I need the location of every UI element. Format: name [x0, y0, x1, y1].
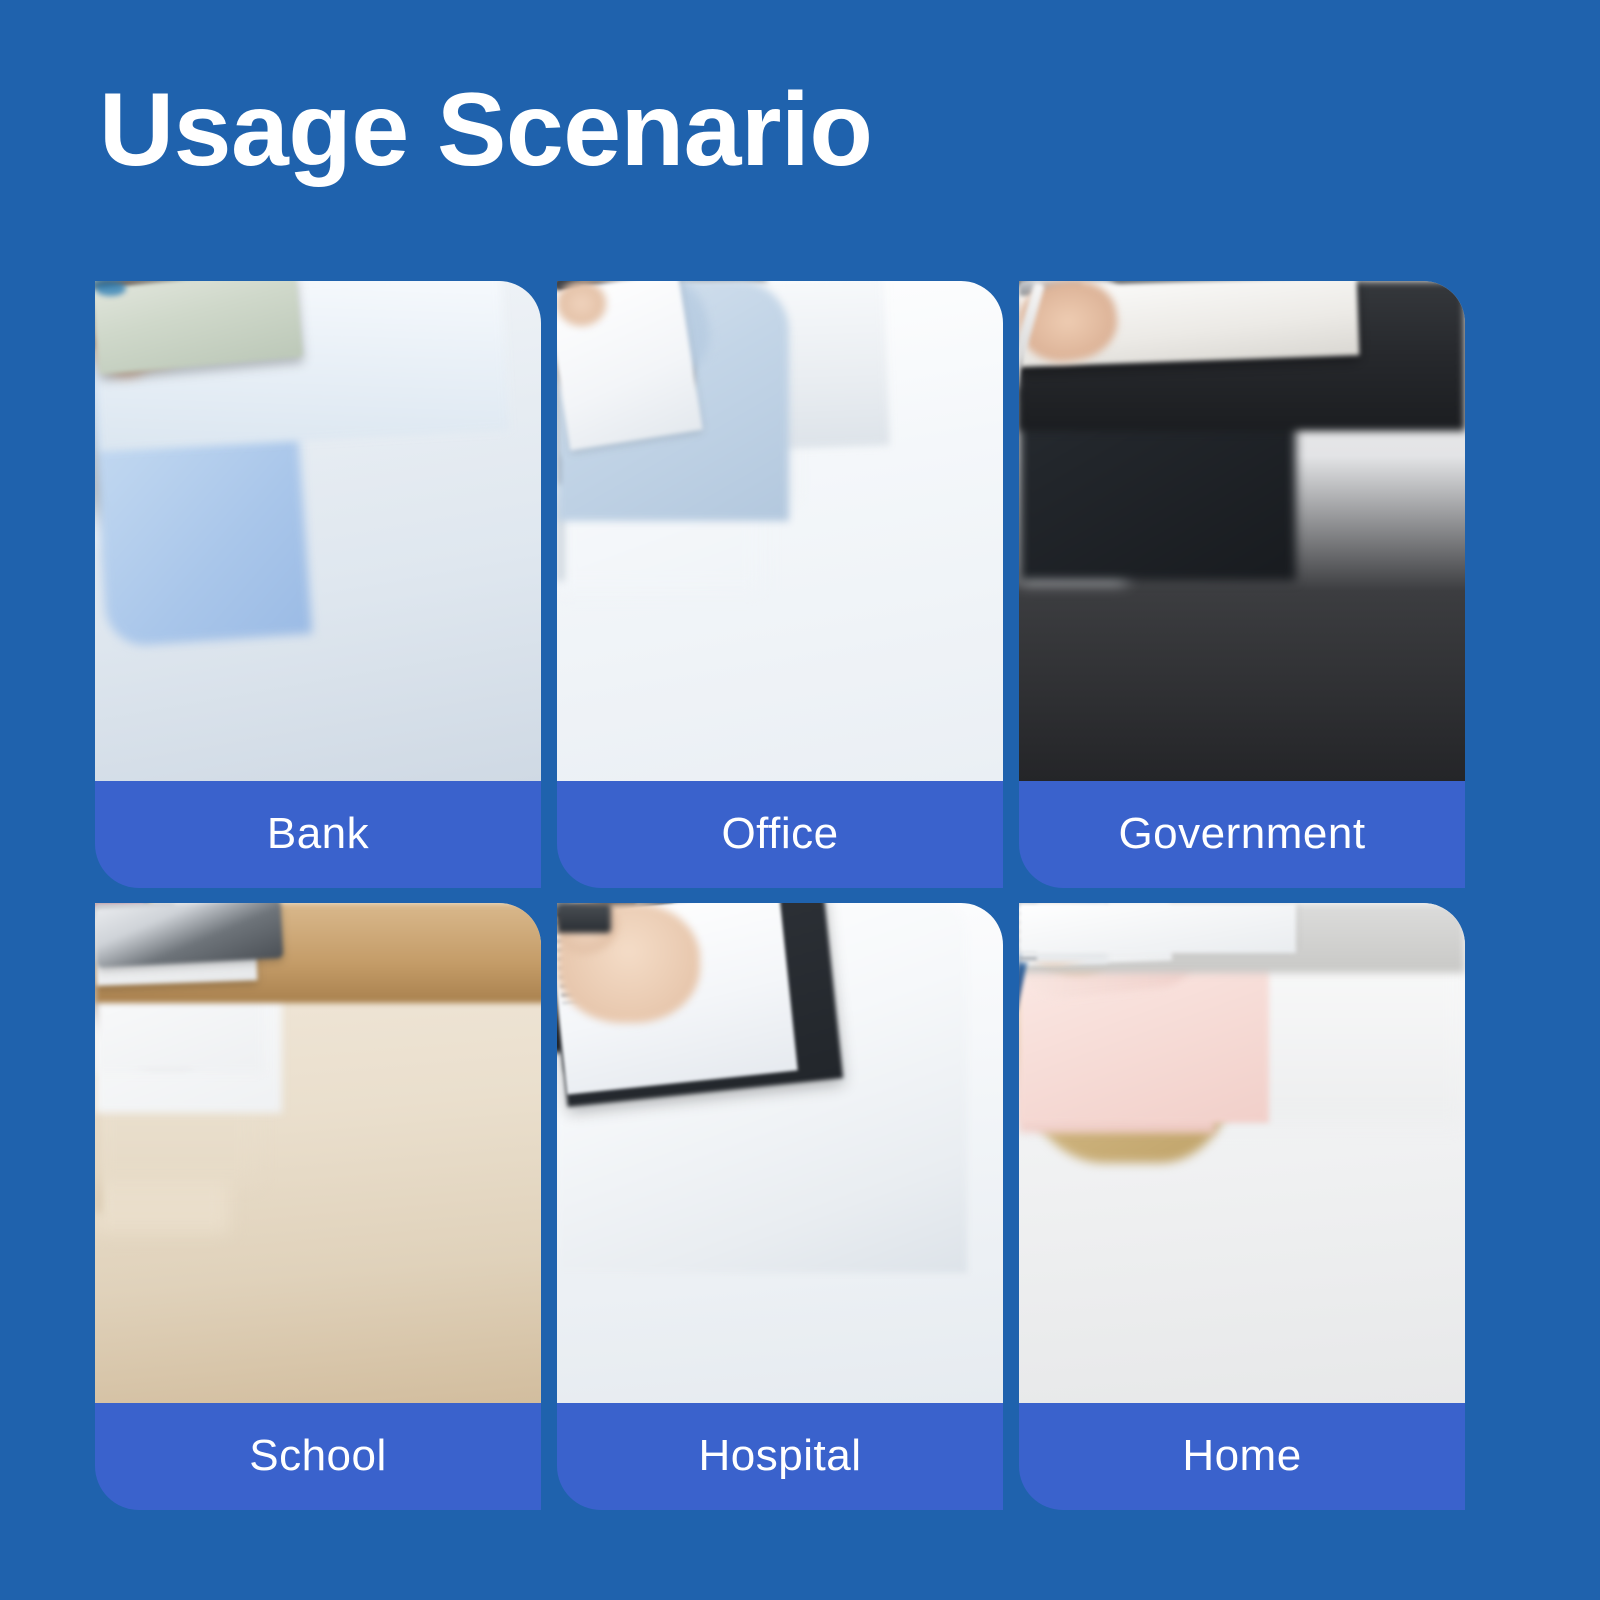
scenario-card-home[interactable]: Home [1019, 903, 1465, 1510]
office-photo [557, 281, 1003, 781]
scenario-grid: Bank [95, 281, 1465, 1510]
page-title: Usage Scenario [99, 78, 872, 182]
scenario-label-bar-hospital: Hospital [557, 1403, 1003, 1510]
scenario-label-bar-bank: Bank [95, 781, 541, 888]
scenario-label-bar-school: School [95, 1403, 541, 1510]
scenario-label-bank: Bank [267, 812, 369, 856]
scenario-card-office[interactable]: Office [557, 281, 1003, 888]
scenario-label-school: School [249, 1434, 387, 1478]
bank-photo [95, 281, 541, 781]
scenario-label-bar-government: Government [1019, 781, 1465, 888]
hospital-photo [557, 903, 1003, 1403]
scenario-card-hospital[interactable]: Hospital [557, 903, 1003, 1510]
scenario-label-bar-home: Home [1019, 1403, 1465, 1510]
scenario-card-government[interactable]: Government [1019, 281, 1465, 888]
scenario-card-school[interactable]: School [95, 903, 541, 1510]
usage-scenario-page: Usage Scenario [0, 0, 1600, 1600]
scenario-label-government: Government [1118, 812, 1365, 856]
scenario-label-office: Office [721, 812, 838, 856]
scenario-label-bar-office: Office [557, 781, 1003, 888]
school-photo [95, 903, 541, 1403]
scenario-label-hospital: Hospital [699, 1434, 862, 1478]
home-photo [1019, 903, 1465, 1403]
government-photo [1019, 281, 1465, 781]
scenario-card-bank[interactable]: Bank [95, 281, 541, 888]
scenario-label-home: Home [1182, 1434, 1301, 1478]
